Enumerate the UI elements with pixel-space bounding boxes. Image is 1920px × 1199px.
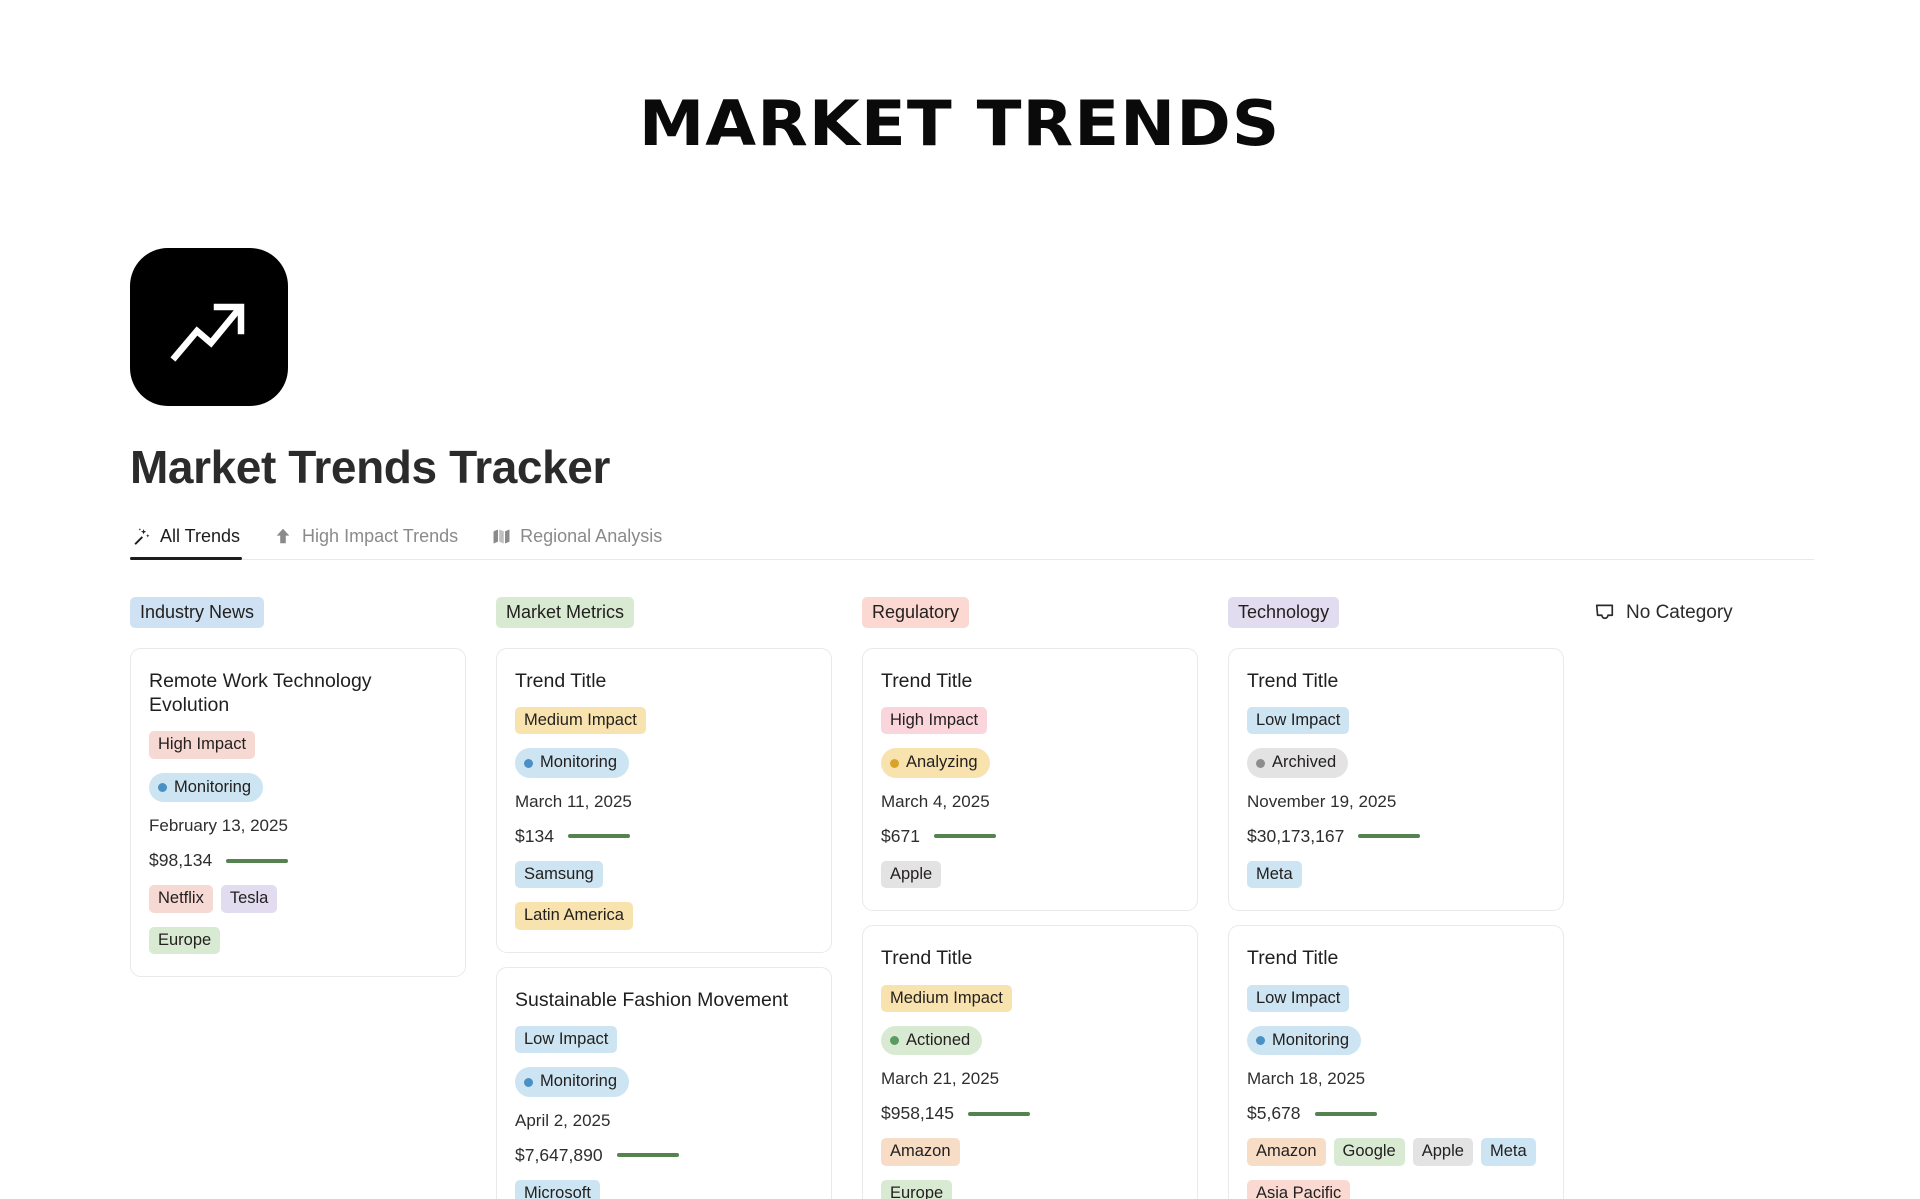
impact-badge[interactable]: High Impact: [149, 731, 255, 758]
column-header[interactable]: Market Metrics: [496, 592, 832, 634]
regions-row: Europe: [881, 1180, 1179, 1199]
map-icon: [492, 526, 512, 546]
impact-row: Low Impact: [515, 1026, 813, 1053]
column-title: Market Metrics: [496, 597, 634, 628]
region-tag[interactable]: Asia Pacific: [1247, 1180, 1350, 1199]
board-column: No Category: [1594, 592, 1920, 1199]
companies-row: Meta: [1247, 861, 1545, 888]
metric-value: $671: [881, 826, 920, 847]
card-title: Trend Title: [881, 669, 1179, 693]
metric-value: $30,173,167: [1247, 826, 1344, 847]
trend-card[interactable]: Trend TitleLow ImpactMonitoringMarch 18,…: [1228, 925, 1564, 1199]
company-tag[interactable]: Apple: [1413, 1138, 1473, 1165]
column-title: No Category: [1626, 602, 1733, 624]
trend-card[interactable]: Remote Work Technology EvolutionHigh Imp…: [130, 648, 466, 978]
status-label: Monitoring: [174, 777, 251, 798]
metric-progress-bar: [1358, 834, 1420, 838]
company-tag[interactable]: Amazon: [881, 1138, 960, 1165]
regions-row: Europe: [149, 927, 447, 954]
status-badge[interactable]: Actioned: [881, 1026, 982, 1055]
metric-progress-bar: [617, 1153, 679, 1157]
metric-value: $134: [515, 826, 554, 847]
impact-badge[interactable]: High Impact: [881, 707, 987, 734]
impact-row: High Impact: [149, 731, 447, 758]
status-row: Archived: [1247, 748, 1545, 777]
card-date: March 21, 2025: [881, 1069, 999, 1089]
date-row: March 11, 2025: [515, 792, 813, 812]
impact-badge[interactable]: Medium Impact: [515, 707, 646, 734]
impact-row: High Impact: [881, 707, 1179, 734]
trending-up-icon: [130, 248, 288, 406]
status-badge[interactable]: Analyzing: [881, 748, 990, 777]
status-row: Actioned: [881, 1026, 1179, 1055]
status-badge[interactable]: Archived: [1247, 748, 1348, 777]
impact-row: Low Impact: [1247, 985, 1545, 1012]
impact-row: Low Impact: [1247, 707, 1545, 734]
column-title: Technology: [1228, 597, 1339, 628]
metric-progress-bar: [226, 859, 288, 863]
metric-row: $7,647,890: [515, 1145, 813, 1166]
column-header[interactable]: Regulatory: [862, 592, 1198, 634]
column-title: Industry News: [130, 597, 264, 628]
region-tag[interactable]: Latin America: [515, 902, 633, 929]
metric-progress-bar: [934, 834, 996, 838]
metric-row: $958,145: [881, 1103, 1179, 1124]
status-row: Monitoring: [515, 1067, 813, 1096]
arrow-up-icon: [274, 526, 294, 546]
company-tag[interactable]: Meta: [1247, 861, 1302, 888]
card-title: Remote Work Technology Evolution: [149, 669, 447, 718]
card-title: Trend Title: [1247, 669, 1545, 693]
company-tag[interactable]: Apple: [881, 861, 941, 888]
impact-row: Medium Impact: [881, 985, 1179, 1012]
region-tag[interactable]: Europe: [881, 1180, 952, 1199]
trend-card[interactable]: Sustainable Fashion MovementLow ImpactMo…: [496, 967, 832, 1199]
trend-card[interactable]: Trend TitleHigh ImpactAnalyzingMarch 4, …: [862, 648, 1198, 912]
banner: MARKET TRENDS: [0, 0, 1920, 248]
tab-all-trends[interactable]: All Trends: [130, 520, 242, 559]
metric-row: $98,134: [149, 850, 447, 871]
metric-row: $30,173,167: [1247, 826, 1545, 847]
status-dot-icon: [524, 1078, 533, 1087]
status-label: Analyzing: [906, 752, 978, 773]
metric-value: $98,134: [149, 850, 212, 871]
impact-badge[interactable]: Low Impact: [1247, 707, 1349, 734]
companies-row: NetflixTesla: [149, 885, 447, 912]
status-dot-icon: [890, 759, 899, 768]
status-label: Monitoring: [1272, 1030, 1349, 1051]
date-row: March 21, 2025: [881, 1069, 1179, 1089]
date-row: April 2, 2025: [515, 1111, 813, 1131]
market-trends-app: MARKET TRENDS Market Trends Tracker: [0, 0, 1920, 1199]
banner-title: MARKET TRENDS: [639, 93, 1280, 155]
status-badge[interactable]: Monitoring: [149, 773, 263, 802]
impact-badge[interactable]: Medium Impact: [881, 985, 1012, 1012]
status-label: Monitoring: [540, 752, 617, 773]
status-label: Actioned: [906, 1030, 970, 1051]
impact-row: Medium Impact: [515, 707, 813, 734]
metric-value: $958,145: [881, 1103, 954, 1124]
card-date: November 19, 2025: [1247, 792, 1396, 812]
metric-progress-bar: [568, 834, 630, 838]
status-dot-icon: [890, 1036, 899, 1045]
trend-card[interactable]: Trend TitleLow ImpactArchivedNovember 19…: [1228, 648, 1564, 912]
company-tag[interactable]: Samsung: [515, 861, 603, 888]
card-date: April 2, 2025: [515, 1111, 610, 1131]
board-column: TechnologyTrend TitleLow ImpactArchivedN…: [1228, 592, 1564, 1199]
board-column: Market MetricsTrend TitleMedium ImpactMo…: [496, 592, 832, 1199]
trend-card[interactable]: Trend TitleMedium ImpactMonitoringMarch …: [496, 648, 832, 953]
metric-progress-bar: [968, 1112, 1030, 1116]
companies-row: Microsoft: [515, 1180, 813, 1199]
magic-wand-icon: [132, 526, 152, 546]
inbox-icon: [1594, 602, 1616, 624]
status-row: Analyzing: [881, 748, 1179, 777]
column-header[interactable]: Industry News: [130, 592, 466, 634]
page-title: Market Trends Tracker: [130, 442, 1920, 494]
metric-value: $5,678: [1247, 1103, 1301, 1124]
regions-row: Asia Pacific: [1247, 1180, 1545, 1199]
column-header[interactable]: Technology: [1228, 592, 1564, 634]
tab-high-impact-trends[interactable]: High Impact Trends: [272, 520, 460, 559]
tab-label: High Impact Trends: [302, 526, 458, 547]
board-column: RegulatoryTrend TitleHigh ImpactAnalyzin…: [862, 592, 1198, 1199]
companies-row: Amazon: [881, 1138, 1179, 1165]
card-title: Trend Title: [881, 946, 1179, 970]
status-dot-icon: [158, 783, 167, 792]
tab-regional-analysis[interactable]: Regional Analysis: [490, 520, 664, 559]
column-title: Regulatory: [862, 597, 969, 628]
card-title: Trend Title: [515, 669, 813, 693]
status-badge[interactable]: Monitoring: [515, 1067, 629, 1096]
card-title: Trend Title: [1247, 946, 1545, 970]
status-badge[interactable]: Monitoring: [515, 748, 629, 777]
companies-row: AmazonGoogleAppleMeta: [1247, 1138, 1545, 1165]
card-date: March 18, 2025: [1247, 1069, 1365, 1089]
company-tag[interactable]: Netflix: [149, 885, 213, 912]
tab-bar: All Trends High Impact Trends: [130, 520, 1814, 560]
company-tag[interactable]: Meta: [1481, 1138, 1536, 1165]
company-tag[interactable]: Tesla: [221, 885, 278, 912]
company-tag[interactable]: Microsoft: [515, 1180, 600, 1199]
company-tag[interactable]: Amazon: [1247, 1138, 1326, 1165]
page-header: Market Trends Tracker All Trends: [0, 248, 1920, 560]
date-row: March 18, 2025: [1247, 1069, 1545, 1089]
regions-row: Latin America: [515, 902, 813, 929]
status-label: Monitoring: [540, 1071, 617, 1092]
board-column: Industry NewsRemote Work Technology Evol…: [130, 592, 466, 1199]
card-date: March 4, 2025: [881, 792, 990, 812]
trend-card[interactable]: Trend TitleMedium ImpactActionedMarch 21…: [862, 925, 1198, 1199]
company-tag[interactable]: Google: [1334, 1138, 1405, 1165]
no-category-header: No Category: [1594, 602, 1733, 624]
status-dot-icon: [1256, 1036, 1265, 1045]
metric-row: $5,678: [1247, 1103, 1545, 1124]
status-dot-icon: [524, 759, 533, 768]
metric-progress-bar: [1315, 1112, 1377, 1116]
card-date: March 11, 2025: [515, 792, 632, 812]
tab-label: All Trends: [160, 526, 240, 547]
status-dot-icon: [1256, 759, 1265, 768]
impact-badge[interactable]: Low Impact: [1247, 985, 1349, 1012]
kanban-board: Industry NewsRemote Work Technology Evol…: [0, 560, 1920, 1199]
card-title: Sustainable Fashion Movement: [515, 988, 813, 1012]
companies-row: Apple: [881, 861, 1179, 888]
date-row: March 4, 2025: [881, 792, 1179, 812]
status-row: Monitoring: [515, 748, 813, 777]
status-label: Archived: [1272, 752, 1336, 773]
tab-label: Regional Analysis: [520, 526, 662, 547]
impact-badge[interactable]: Low Impact: [515, 1026, 617, 1053]
metric-row: $134: [515, 826, 813, 847]
card-date: February 13, 2025: [149, 816, 288, 836]
metric-value: $7,647,890: [515, 1145, 603, 1166]
date-row: November 19, 2025: [1247, 792, 1545, 812]
date-row: February 13, 2025: [149, 816, 447, 836]
column-header[interactable]: No Category: [1594, 592, 1920, 634]
companies-row: Samsung: [515, 861, 813, 888]
metric-row: $671: [881, 826, 1179, 847]
region-tag[interactable]: Europe: [149, 927, 220, 954]
status-row: Monitoring: [149, 773, 447, 802]
status-row: Monitoring: [1247, 1026, 1545, 1055]
status-badge[interactable]: Monitoring: [1247, 1026, 1361, 1055]
